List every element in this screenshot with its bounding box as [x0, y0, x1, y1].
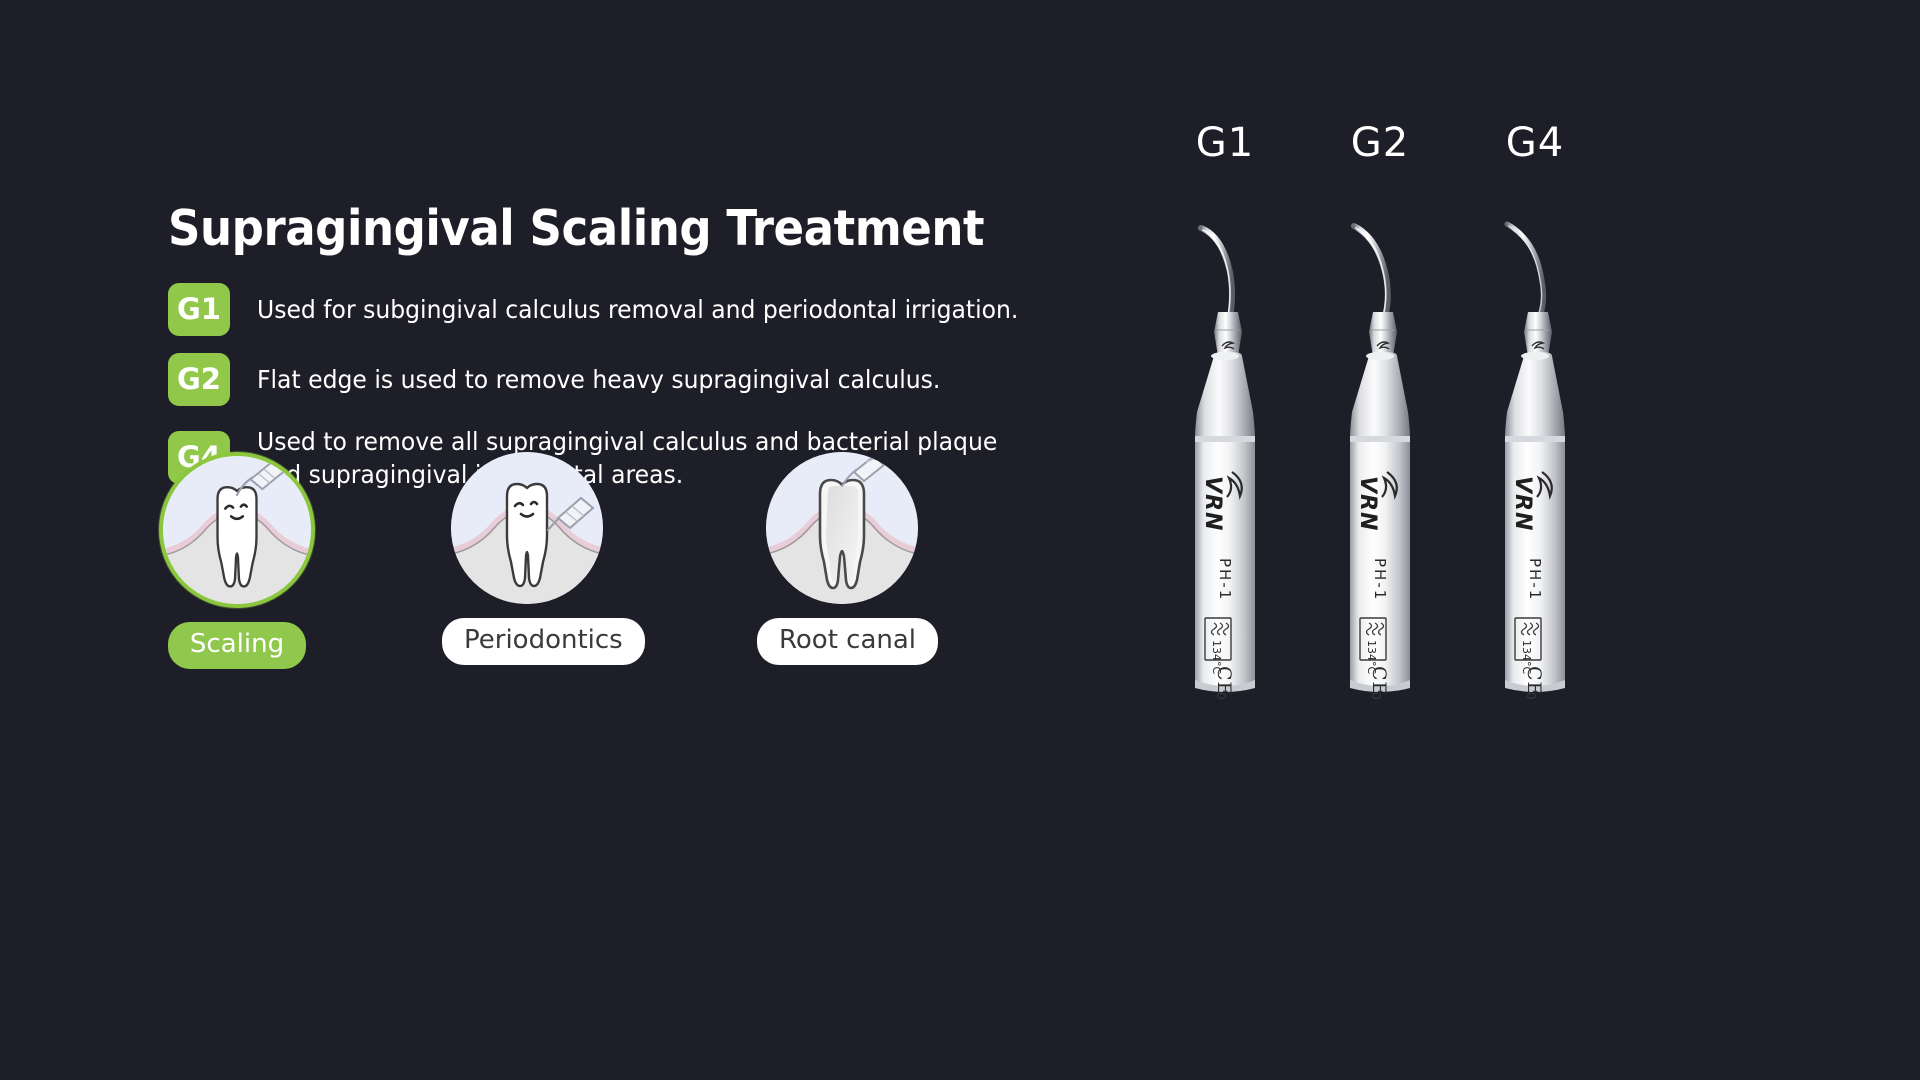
svg-text:PH-1: PH-1 [1216, 558, 1234, 601]
tooth-scaling-icon [159, 452, 315, 608]
treatment-option-periodontics[interactable]: Periodontics [442, 452, 612, 665]
bullet-item-g2: G2 Flat edge is used to remove heavy sup… [168, 353, 1118, 406]
content-panel: Supragingival Scaling Treatment G1 Used … [168, 200, 1118, 492]
bullet-item-g1: G1 Used for subgingival calculus removal… [168, 283, 1118, 336]
svg-text:VRN: VRN [1355, 476, 1380, 531]
treatment-label-root-canal[interactable]: Root canal [757, 618, 938, 665]
svg-text:0123: 0123 [1524, 692, 1538, 700]
badge-g2: G2 [168, 353, 230, 406]
svg-text:PH-1: PH-1 [1526, 558, 1544, 601]
slide-canvas: Supragingival Scaling Treatment G1 Used … [0, 0, 1920, 1080]
bullet-text-g2: Flat edge is used to remove heavy suprag… [257, 353, 940, 396]
handpiece-gallery: G1 [1080, 120, 1920, 740]
tooth-root-canal-icon [766, 452, 918, 604]
handpiece-label-g4: G4 [1435, 120, 1635, 180]
handpiece-g1-graphic: VRN PH-1 134°C CE 0123 [1160, 180, 1290, 700]
page-title: Supragingival Scaling Treatment [168, 200, 1042, 257]
handpiece-g4[interactable]: G4 VRN PH-1 [1435, 120, 1635, 700]
treatment-option-root-canal[interactable]: Root canal [757, 452, 927, 665]
treatment-selector: Scaling [152, 452, 952, 682]
svg-text:VRN: VRN [1200, 476, 1225, 531]
svg-text:0123: 0123 [1214, 692, 1228, 700]
svg-text:VRN: VRN [1510, 476, 1535, 531]
handpiece-g2-graphic: VRN PH-1 134°C CE 0123 [1315, 180, 1445, 700]
svg-text:PH-1: PH-1 [1371, 558, 1389, 601]
treatment-option-scaling[interactable]: Scaling [152, 452, 322, 669]
badge-g1: G1 [168, 283, 230, 336]
treatment-label-periodontics[interactable]: Periodontics [442, 618, 645, 665]
bullet-text-g1: Used for subgingival calculus removal an… [257, 283, 1018, 326]
treatment-label-scaling[interactable]: Scaling [168, 622, 306, 669]
tooth-periodontics-icon [451, 452, 603, 604]
handpiece-g4-graphic: VRN PH-1 134°C CE 0123 [1470, 180, 1600, 700]
svg-text:0123: 0123 [1369, 692, 1383, 700]
